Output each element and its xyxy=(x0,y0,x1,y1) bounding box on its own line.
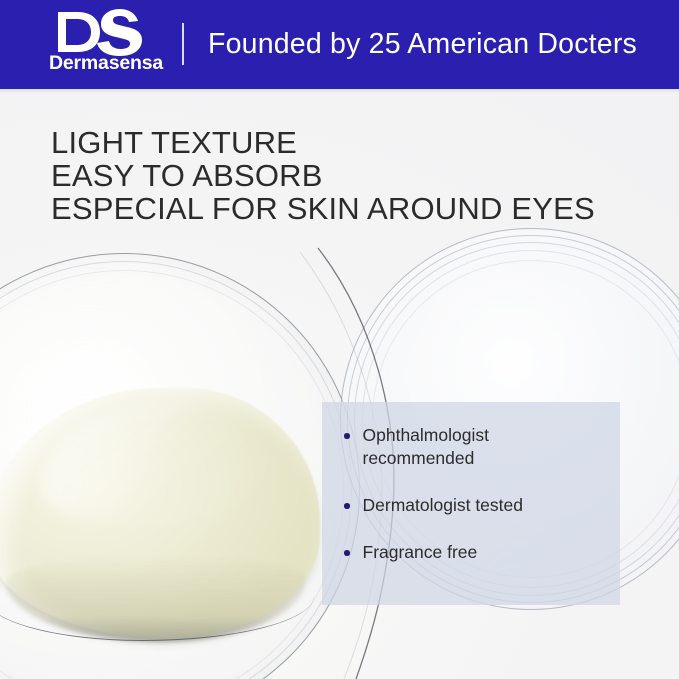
banner-divider xyxy=(182,23,184,65)
headline-line-2: EASY TO ABSORB xyxy=(51,159,595,192)
list-item: Dermatologist tested xyxy=(344,494,616,517)
headline-line-1: LIGHT TEXTURE xyxy=(51,126,595,159)
bullet-dot-icon xyxy=(344,433,350,439)
list-item: Fragrance free xyxy=(344,541,616,564)
claim-text: Fragrance free xyxy=(363,541,478,564)
brand-wordmark: Dermasensa xyxy=(36,52,176,75)
bullet-dot-icon xyxy=(344,503,350,509)
headline-block: LIGHT TEXTURE EASY TO ABSORB ESPECIAL FO… xyxy=(51,126,595,225)
bullet-dot-icon xyxy=(344,550,350,556)
brand-banner: Dermasensa Founded by 25 American Docter… xyxy=(0,0,679,89)
list-item: Ophthalmologist recommended xyxy=(344,424,616,470)
banner-underline xyxy=(0,89,679,93)
product-marketing-image: Ophthalmologist recommended Dermatologis… xyxy=(0,0,679,679)
brand-logo: Dermasensa xyxy=(36,8,176,84)
claim-text: Dermatologist tested xyxy=(363,494,524,517)
ds-monogram-icon xyxy=(52,8,156,56)
headline-line-3: ESPECIAL FOR SKIN AROUND EYES xyxy=(51,192,595,225)
banner-tagline: Founded by 25 American Docters xyxy=(208,0,637,89)
claims-list: Ophthalmologist recommended Dermatologis… xyxy=(344,424,616,564)
claim-text: Ophthalmologist recommended xyxy=(363,424,563,470)
